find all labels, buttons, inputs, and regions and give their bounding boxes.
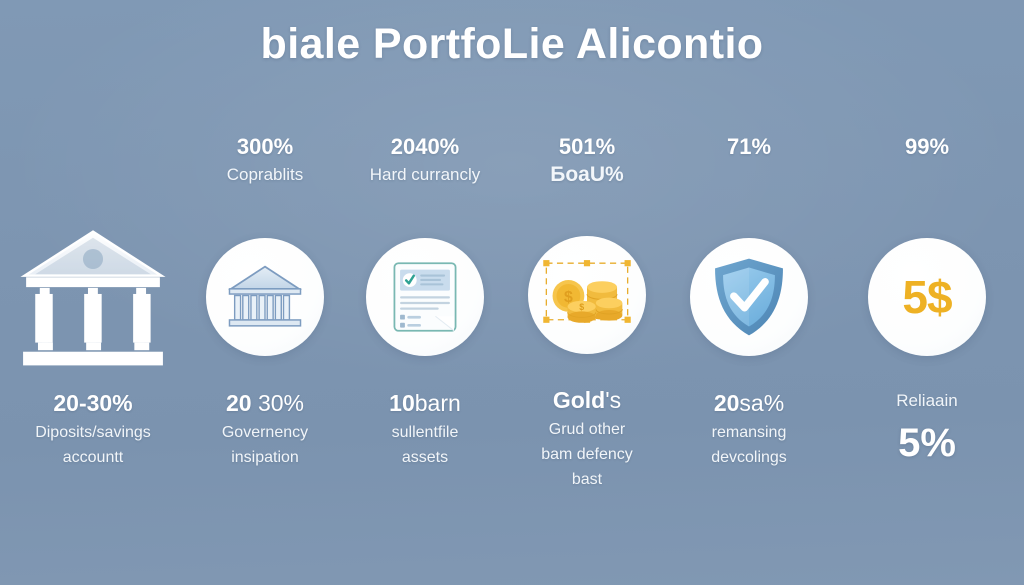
stat-column-corporate-bonds: 300% Coprablits: [186, 132, 344, 492]
icon-slot: [17, 228, 169, 366]
bottom-description: Grud other bam defency bast: [506, 415, 668, 492]
icon-slot: [366, 228, 484, 366]
verified-document-icon: [390, 260, 460, 334]
bottom-percent-main: 20: [226, 390, 252, 416]
top-subtitle: БoaU%: [506, 162, 668, 188]
bottom-description: remansing devcolings: [668, 418, 830, 470]
icon-circle: $ $: [528, 236, 646, 354]
stat-column-insurance: 71%: [668, 132, 830, 492]
bottom-label-group: Gold's Grud other bam defency bast: [506, 363, 668, 492]
icon-circle: 5$: [868, 238, 986, 356]
bottom-prelabel: Reliaain: [830, 388, 1024, 414]
top-label-group: 2040% Hard currancly: [344, 132, 506, 228]
stat-column-hard-currency: 2040% Hard currancly: [344, 132, 506, 492]
bottom-label-group: 20 30% Governency insipation: [186, 366, 344, 470]
bottom-label-group: 10barn sullentfile assets: [344, 366, 506, 470]
shield-check-icon: [709, 255, 789, 339]
icon-slot: $ $: [528, 227, 646, 363]
page-title: biale PortfoLie Alicontio: [0, 20, 1024, 69]
top-label-group: [0, 132, 186, 228]
bottom-percent-main: 10: [389, 390, 415, 416]
bottom-description: Diposits/savings accountt: [0, 418, 186, 470]
top-percent: 300%: [186, 132, 344, 162]
icon-circle: [206, 238, 324, 356]
bottom-label-group: 20-30% Diposits/savings accountt: [0, 366, 186, 470]
bottom-percent: Gold's: [506, 385, 668, 415]
bottom-label-group: Reliaain 5%: [830, 366, 1024, 466]
top-percent: 99%: [830, 132, 1024, 162]
top-label-group: 99%: [830, 132, 1024, 228]
gold-coins-icon: $ $: [541, 257, 633, 333]
top-subtitle: Hard currancly: [344, 162, 506, 188]
bottom-percent: 20-30%: [0, 388, 186, 418]
top-percent: 71%: [668, 132, 830, 162]
stats-column-group: 20-30% Diposits/savings accountt 300% Co…: [0, 132, 1024, 492]
bottom-label-group: 20sa% remansing devcolings: [668, 366, 830, 470]
top-label-group: 501% БoaU%: [506, 132, 668, 227]
icon-circle: [366, 238, 484, 356]
bottom-description: sullentfile assets: [344, 418, 506, 470]
infographic-canvas: biale PortfoLie Alicontio: [0, 0, 1024, 585]
stat-column-deposits: 20-30% Diposits/savings accountt: [0, 132, 186, 492]
bottom-percent-secondary: barn: [415, 390, 461, 416]
dollar-five-icon: 5$: [902, 274, 951, 320]
icon-slot: [690, 228, 808, 366]
bottom-percent: 20sa%: [668, 388, 830, 418]
bottom-percent-main: Gold: [553, 387, 605, 413]
stat-column-gold: 501% БoaU%: [506, 132, 668, 492]
bank-building-icon: [17, 221, 169, 373]
bottom-percent-secondary: 30%: [258, 390, 304, 416]
classical-bank-icon: [228, 262, 302, 332]
svg-text:$: $: [579, 302, 584, 312]
bottom-percent: 10barn: [344, 388, 506, 418]
bottom-percent-secondary: sa%: [739, 390, 784, 416]
top-label-group: 71%: [668, 132, 830, 228]
icon-circle: [690, 238, 808, 356]
icon-slot: 5$: [868, 228, 986, 366]
icon-slot: [206, 228, 324, 366]
top-percent: 501%: [506, 132, 668, 162]
bottom-big-percent: 5%: [830, 414, 1024, 466]
stat-column-reliability: 99% 5$ Reliaain 5%: [830, 132, 1024, 492]
top-label-group: 300% Coprablits: [186, 132, 344, 228]
bottom-percent-main: 20: [714, 390, 740, 416]
top-percent: 2040%: [344, 132, 506, 162]
top-subtitle: Coprablits: [186, 162, 344, 188]
bottom-percent: 20 30%: [186, 388, 344, 418]
bottom-percent-secondary: 's: [605, 387, 621, 413]
bottom-description: Governency insipation: [186, 418, 344, 470]
